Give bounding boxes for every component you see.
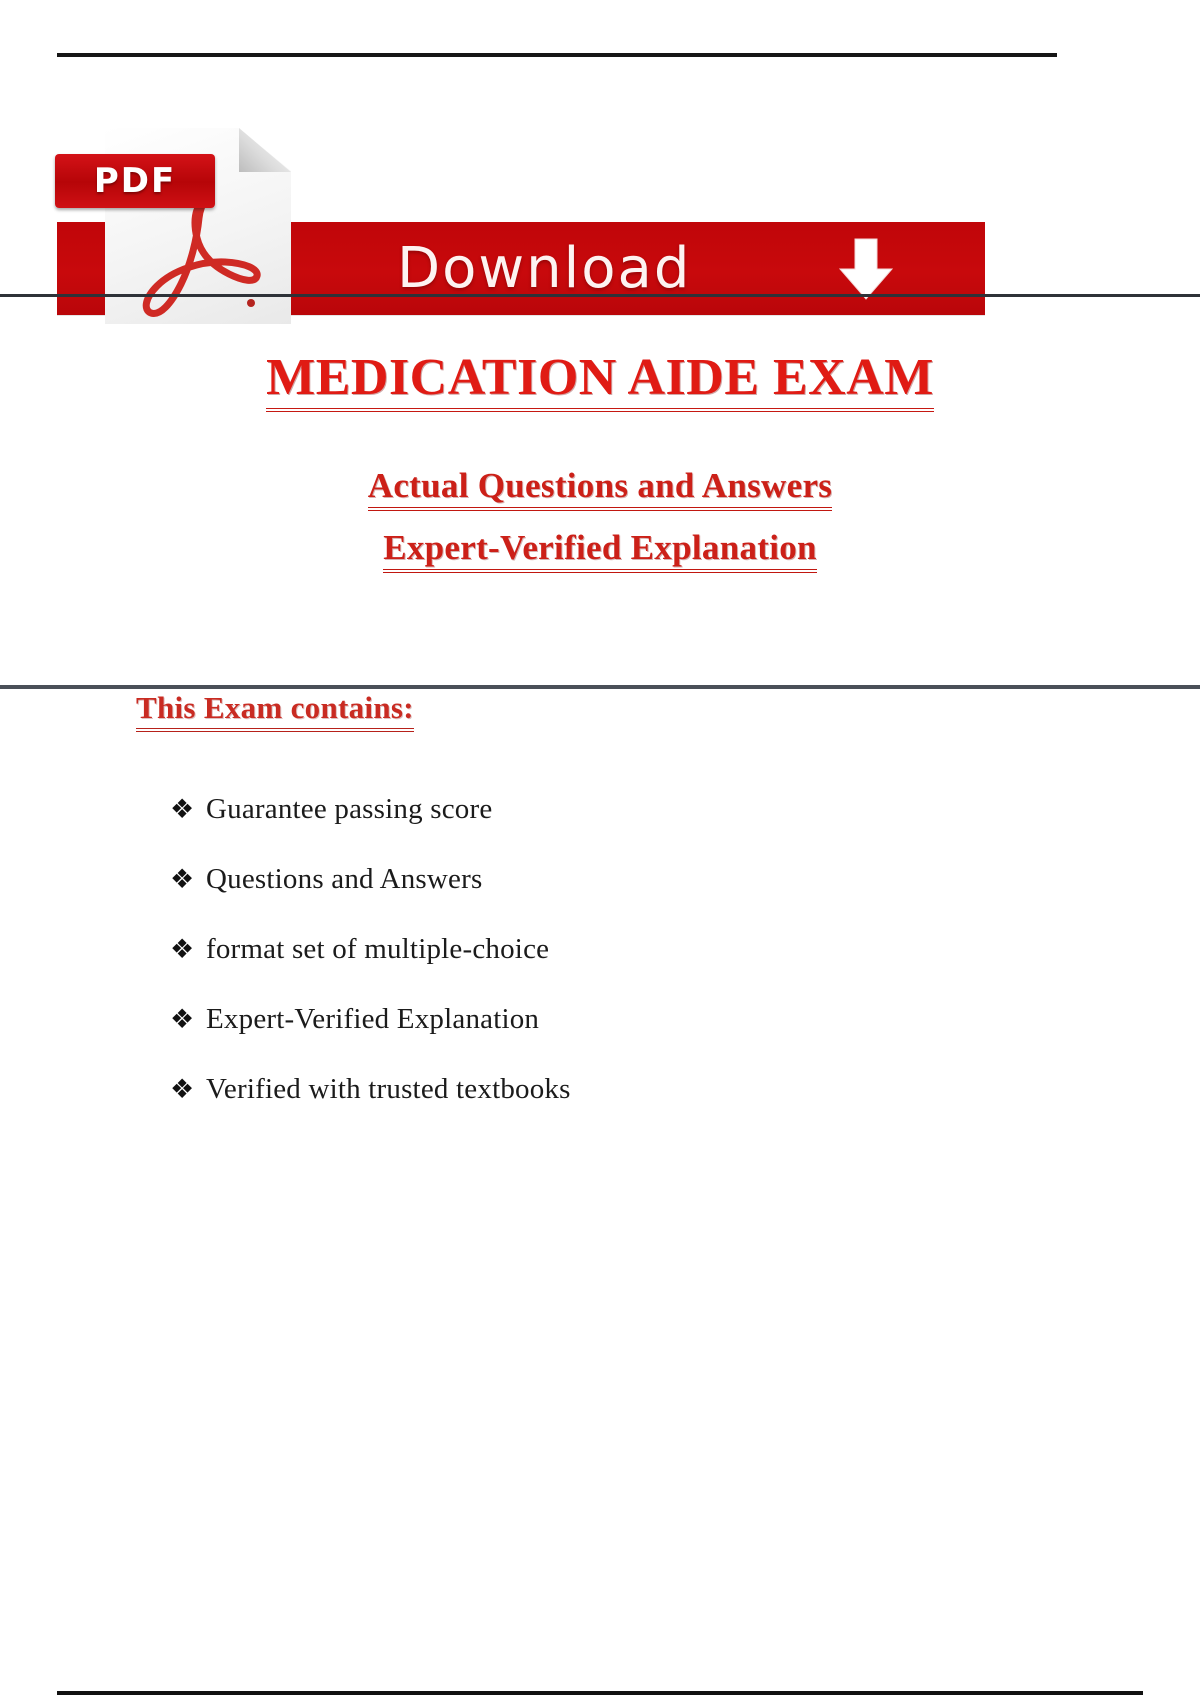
exam-contains-list: ❖ Guarantee passing score ❖ Questions an… [170, 794, 950, 1144]
bottom-horizontal-rule [57, 1691, 1143, 1695]
list-item-label: Guarantee passing score [206, 794, 950, 826]
page-title: MEDICATION AIDE EXAM [0, 348, 1200, 407]
banner-bottom-rule [0, 294, 1200, 297]
pdf-badge: PDF [55, 154, 215, 208]
subtitle-questions-answers: Actual Questions and Answers [0, 466, 1200, 506]
list-item: ❖ Verified with trusted textbooks [170, 1074, 950, 1144]
subtitle-expert-verified: Expert-Verified Explanation [0, 528, 1200, 568]
diamond-bullet-icon: ❖ [170, 1004, 206, 1035]
top-horizontal-rule [57, 53, 1057, 57]
diamond-bullet-icon: ❖ [170, 794, 206, 825]
pdf-badge-label: PDF [94, 161, 176, 201]
list-item-label: Verified with trusted textbooks [206, 1074, 950, 1106]
section-heading-contains: This Exam contains: [136, 690, 414, 726]
diamond-bullet-icon: ❖ [170, 1074, 206, 1105]
download-arrow-icon [835, 237, 897, 301]
list-item: ❖ Guarantee passing score [170, 794, 950, 864]
page-title-text: MEDICATION AIDE EXAM [266, 349, 934, 412]
document-page: Download PDF MEDICATION AIDE EXAM Actual… [0, 0, 1200, 1700]
diamond-bullet-icon: ❖ [170, 864, 206, 895]
list-item-label: Expert-Verified Explanation [206, 1004, 950, 1036]
list-item: ❖ format set of multiple-choice [170, 934, 950, 1004]
download-label: Download [397, 241, 691, 297]
subtitle-expert-verified-text: Expert-Verified Explanation [383, 528, 817, 573]
hero-bottom-rule [0, 685, 1200, 689]
acrobat-swirl-icon [133, 200, 261, 318]
list-item-label: Questions and Answers [206, 864, 950, 896]
list-item-label: format set of multiple-choice [206, 934, 950, 966]
subtitle-questions-answers-text: Actual Questions and Answers [368, 466, 832, 511]
list-item: ❖ Expert-Verified Explanation [170, 1004, 950, 1074]
list-item: ❖ Questions and Answers [170, 864, 950, 934]
section-heading-contains-text: This Exam contains: [136, 690, 414, 732]
diamond-bullet-icon: ❖ [170, 934, 206, 965]
